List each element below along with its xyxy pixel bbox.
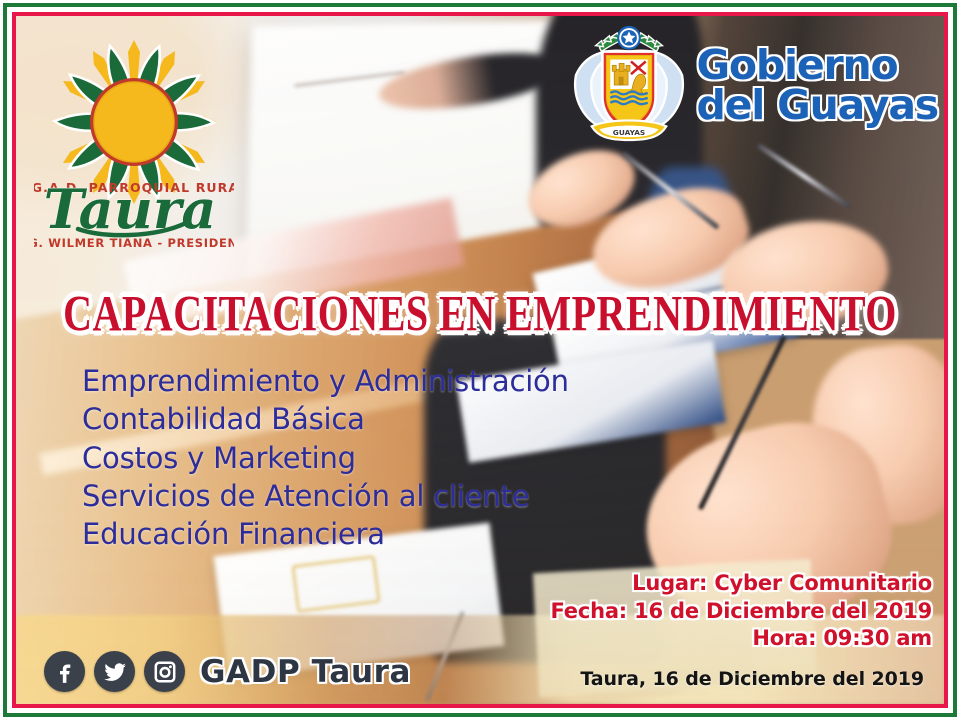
poster-canvas: G.A.D. PARROQUIAL RURAL Taura ING. WILME… [0, 0, 960, 720]
course-item: Contabilidad Básica [82, 400, 569, 438]
guayas-coat-of-arms-icon: GUAYAS [570, 24, 688, 148]
course-item: Servicios de Atención al cliente [82, 477, 569, 515]
taura-logo: G.A.D. PARROQUIAL RURAL Taura ING. WILME… [34, 22, 234, 250]
guayas-wordmark: Gobierno del Guayas [696, 47, 938, 124]
twitter-icon[interactable] [94, 651, 135, 692]
event-detail-time: Hora: 09:30 am [550, 625, 932, 653]
guayas-word-line2: del Guayas [696, 87, 938, 125]
instagram-icon[interactable] [144, 651, 185, 692]
course-item: Educación Financiera [82, 515, 569, 553]
event-detail-place: Lugar: Cyber Comunitario [550, 570, 932, 598]
guayas-logo: GUAYAS Gobierno del Guayas [570, 24, 938, 148]
guayas-word-line1: Gobierno [696, 47, 938, 85]
event-details: Lugar: Cyber Comunitario Fecha: 16 de Di… [550, 570, 932, 653]
guayas-shield-motto: GUAYAS [613, 128, 645, 137]
social-bar: GADP Taura [44, 651, 411, 692]
page-title: CAPACITACIONES EN EMPRENDIMIENTO [0, 283, 960, 343]
course-item: Emprendimiento y Administración [82, 362, 569, 400]
dateline: Taura, 16 de Diciembre del 2019 [580, 668, 924, 690]
facebook-icon[interactable] [44, 651, 85, 692]
course-item: Costos y Marketing [82, 439, 569, 477]
social-handle: GADP Taura [200, 654, 411, 690]
taura-script-name: Taura [44, 177, 217, 241]
event-detail-date: Fecha: 16 de Diciembre del 2019 [550, 598, 932, 626]
course-list: Emprendimiento y Administración Contabil… [82, 362, 569, 553]
taura-line-bottom: ING. WILMER TIANA - PRESIDENTE [34, 236, 234, 250]
